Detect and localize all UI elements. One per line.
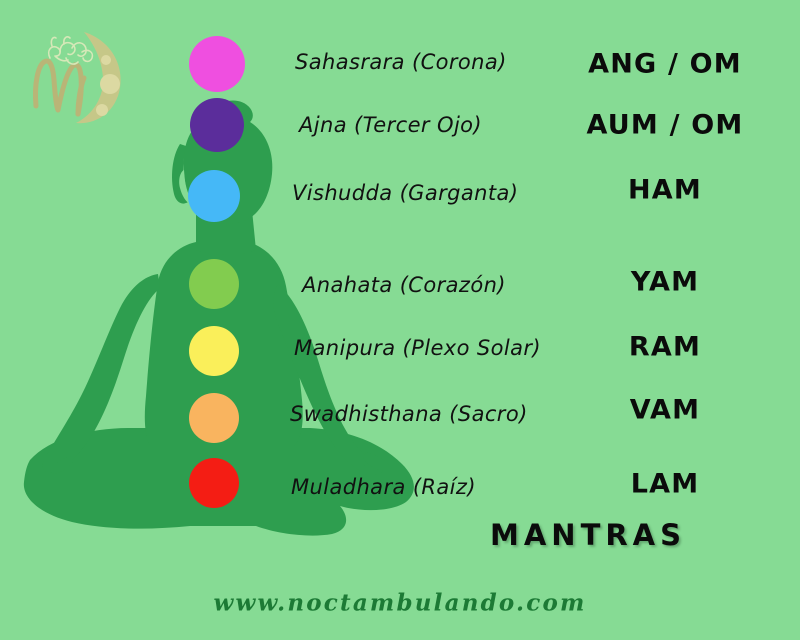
mantra-label: RAM bbox=[629, 332, 701, 363]
mantra-label: VAM bbox=[630, 395, 700, 426]
website-url: www.noctambulando.com bbox=[213, 590, 586, 617]
chakra-dot bbox=[189, 393, 239, 443]
chakra-infographic: Sahasrara (Corona)Ajna (Tercer Ojo)Vishu… bbox=[0, 0, 800, 640]
chakra-dot bbox=[189, 36, 245, 92]
chakra-dot bbox=[189, 259, 239, 309]
chakra-dot bbox=[190, 98, 244, 152]
mantra-label: YAM bbox=[631, 267, 699, 298]
chakra-dot bbox=[188, 170, 240, 222]
mantra-label: HAM bbox=[628, 175, 702, 206]
chakra-name-label: Ajna (Tercer Ojo) bbox=[299, 113, 482, 137]
chakra-name-label: Muladhara (Raíz) bbox=[291, 475, 476, 499]
chakra-name-label: Swadhisthana (Sacro) bbox=[290, 402, 528, 426]
mantras-heading: MANTRAS bbox=[490, 518, 686, 552]
chakra-dot bbox=[189, 326, 239, 376]
chakra-name-label: Manipura (Plexo Solar) bbox=[294, 336, 541, 360]
chakra-name-label: Anahata (Corazón) bbox=[302, 273, 506, 297]
mantra-label: LAM bbox=[631, 469, 700, 500]
mantra-label: AUM / OM bbox=[587, 110, 744, 141]
chakra-name-label: Sahasrara (Corona) bbox=[295, 50, 507, 74]
mantra-label: ANG / OM bbox=[588, 49, 742, 80]
chakra-dot bbox=[189, 458, 239, 508]
chakra-name-label: Vishudda (Garganta) bbox=[292, 181, 518, 205]
